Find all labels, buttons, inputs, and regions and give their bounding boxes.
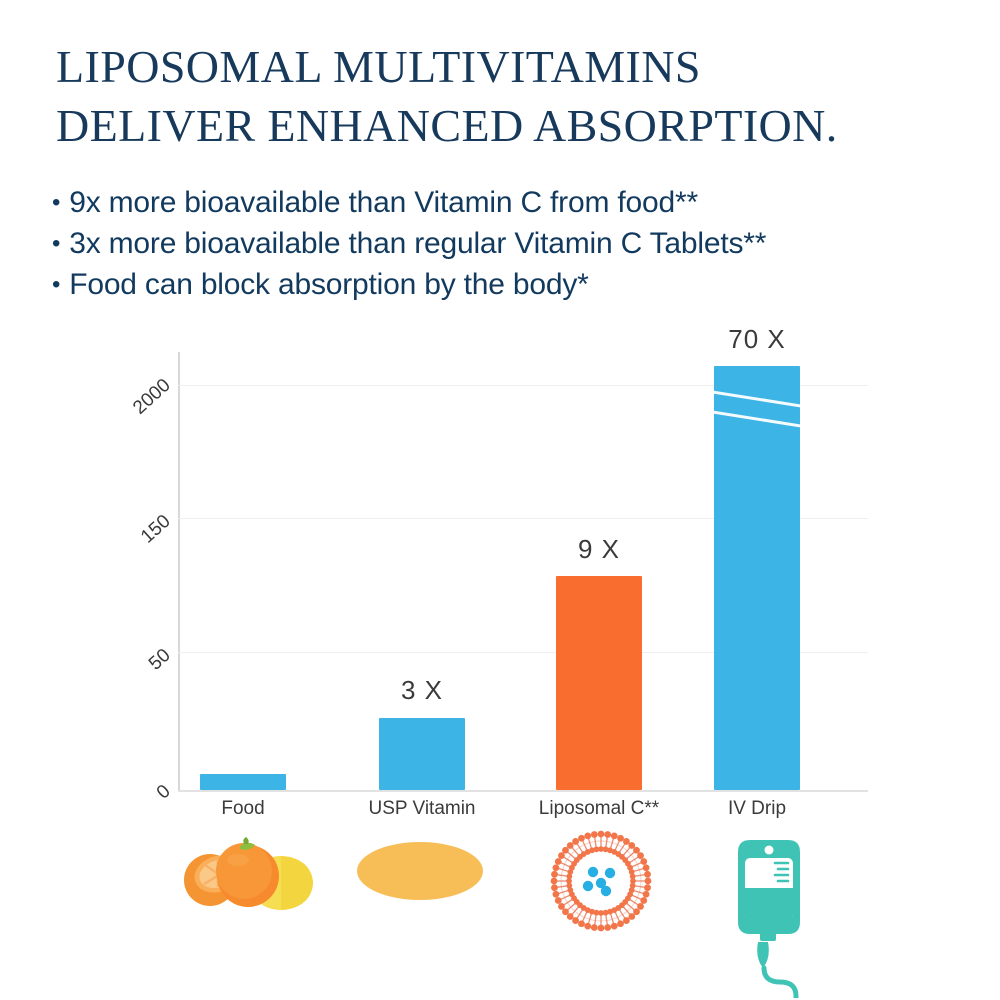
axis-break-line-lower <box>714 410 800 429</box>
bar-value-label-iv-drip: 70 X <box>707 324 807 355</box>
x-axis-label-iv-drip: IV Drip <box>697 798 817 820</box>
liposome-icon <box>548 828 654 939</box>
tablet-pill-icon <box>355 840 485 907</box>
bar-value-label-usp-vitamin: 3 X <box>379 675 465 706</box>
y-axis-tick-2000: 2000 <box>116 375 175 431</box>
y-axis-line <box>178 352 180 792</box>
bar-liposomal-c[interactable] <box>556 576 642 790</box>
bioavailability-bar-chart: 2000 150 50 0 3 X 9 X 70 X Food USP Vita… <box>0 0 1000 1000</box>
bar-value-label-liposomal-c: 9 X <box>556 534 642 565</box>
y-axis-tick-50: 50 <box>123 645 175 695</box>
axis-break-line-upper <box>714 390 800 409</box>
x-axis-label-food: Food <box>183 798 303 820</box>
bar-food[interactable] <box>200 774 286 790</box>
y-axis-tick-150: 150 <box>119 511 175 565</box>
x-axis-baseline <box>178 790 868 792</box>
citrus-fruit-icon <box>178 830 318 925</box>
y-axis-tick-0: 0 <box>129 781 175 825</box>
bar-iv-drip[interactable] <box>714 366 800 790</box>
infographic-page: LIPOSOMAL MULTIVITAMINS DELIVER ENHANCED… <box>0 0 1000 1000</box>
iv-drip-bag-icon <box>712 830 842 1000</box>
bar-usp-vitamin[interactable] <box>379 718 465 790</box>
x-axis-label-usp-vitamin: USP Vitamin <box>352 798 492 820</box>
x-axis-label-liposomal-c: Liposomal C** <box>529 798 669 820</box>
